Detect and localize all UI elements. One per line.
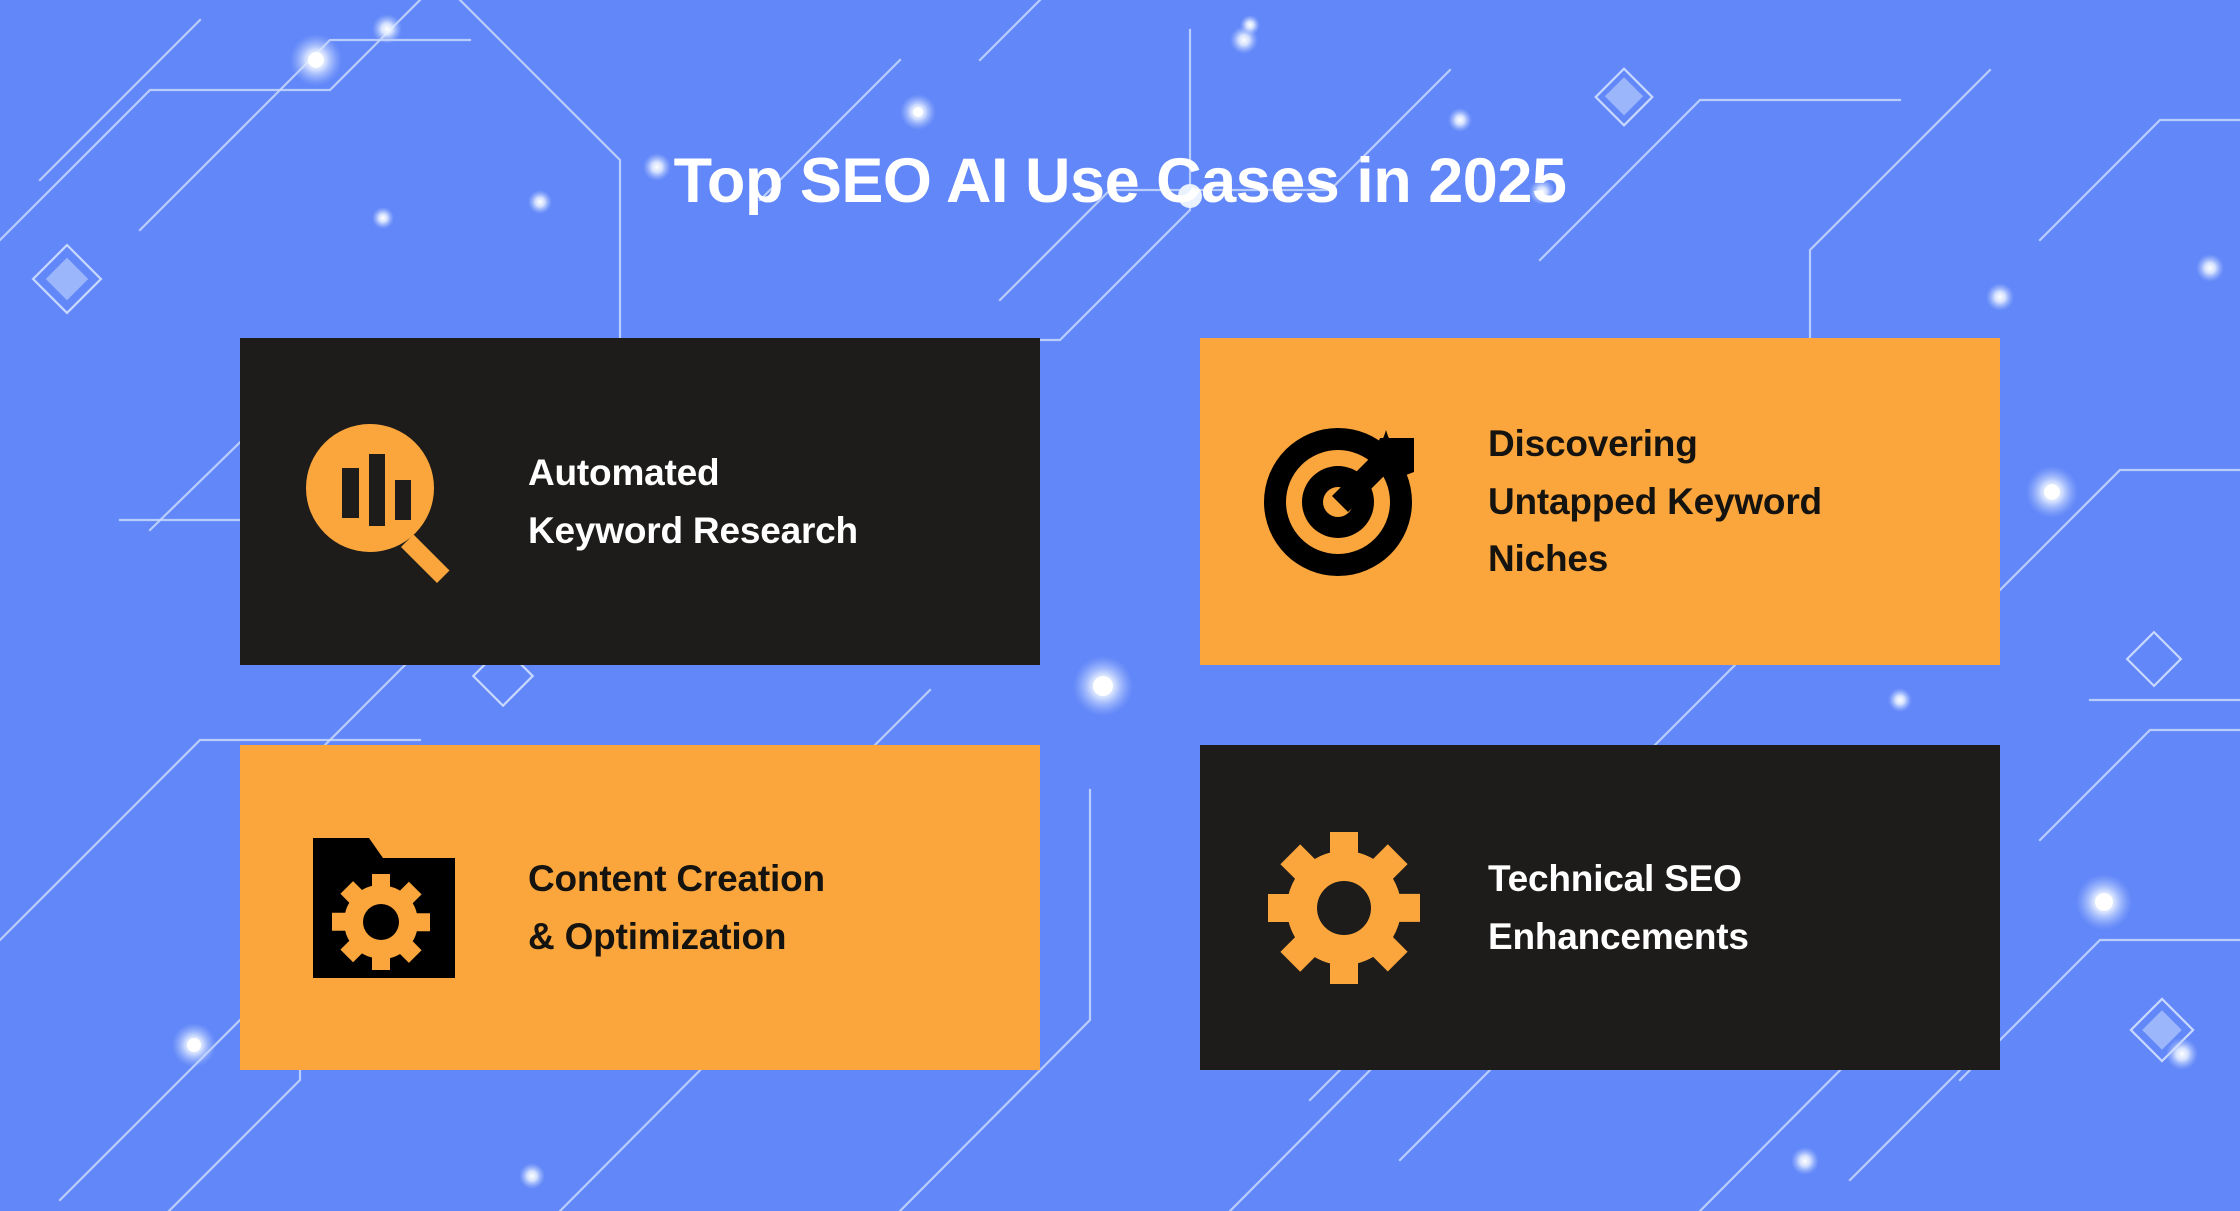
card-discovering-untapped-keyword-niches[interactable]: Discovering Untapped Keyword Niches bbox=[1200, 338, 2000, 665]
card-label: Content Creation & Optimization bbox=[528, 850, 1040, 965]
gear-icon bbox=[1258, 822, 1430, 994]
card-label: Discovering Untapped Keyword Niches bbox=[1488, 415, 2000, 587]
infographic-canvas: Top SEO AI Use Cases in 2025 Automated K… bbox=[0, 0, 2240, 1211]
use-case-card-grid: Automated Keyword Research bbox=[240, 338, 2000, 1070]
target-arrow-sparkle-icon bbox=[1258, 416, 1430, 588]
magnifier-bar-chart-icon bbox=[298, 416, 470, 588]
page-title: Top SEO AI Use Cases in 2025 bbox=[0, 148, 2240, 214]
folder-gear-icon bbox=[298, 822, 470, 994]
card-label: Automated Keyword Research bbox=[528, 444, 1040, 559]
card-label: Technical SEO Enhancements bbox=[1488, 850, 2000, 965]
card-technical-seo-enhancements[interactable]: Technical SEO Enhancements bbox=[1200, 745, 2000, 1070]
card-automated-keyword-research[interactable]: Automated Keyword Research bbox=[240, 338, 1040, 665]
card-content-creation-optimization[interactable]: Content Creation & Optimization bbox=[240, 745, 1040, 1070]
